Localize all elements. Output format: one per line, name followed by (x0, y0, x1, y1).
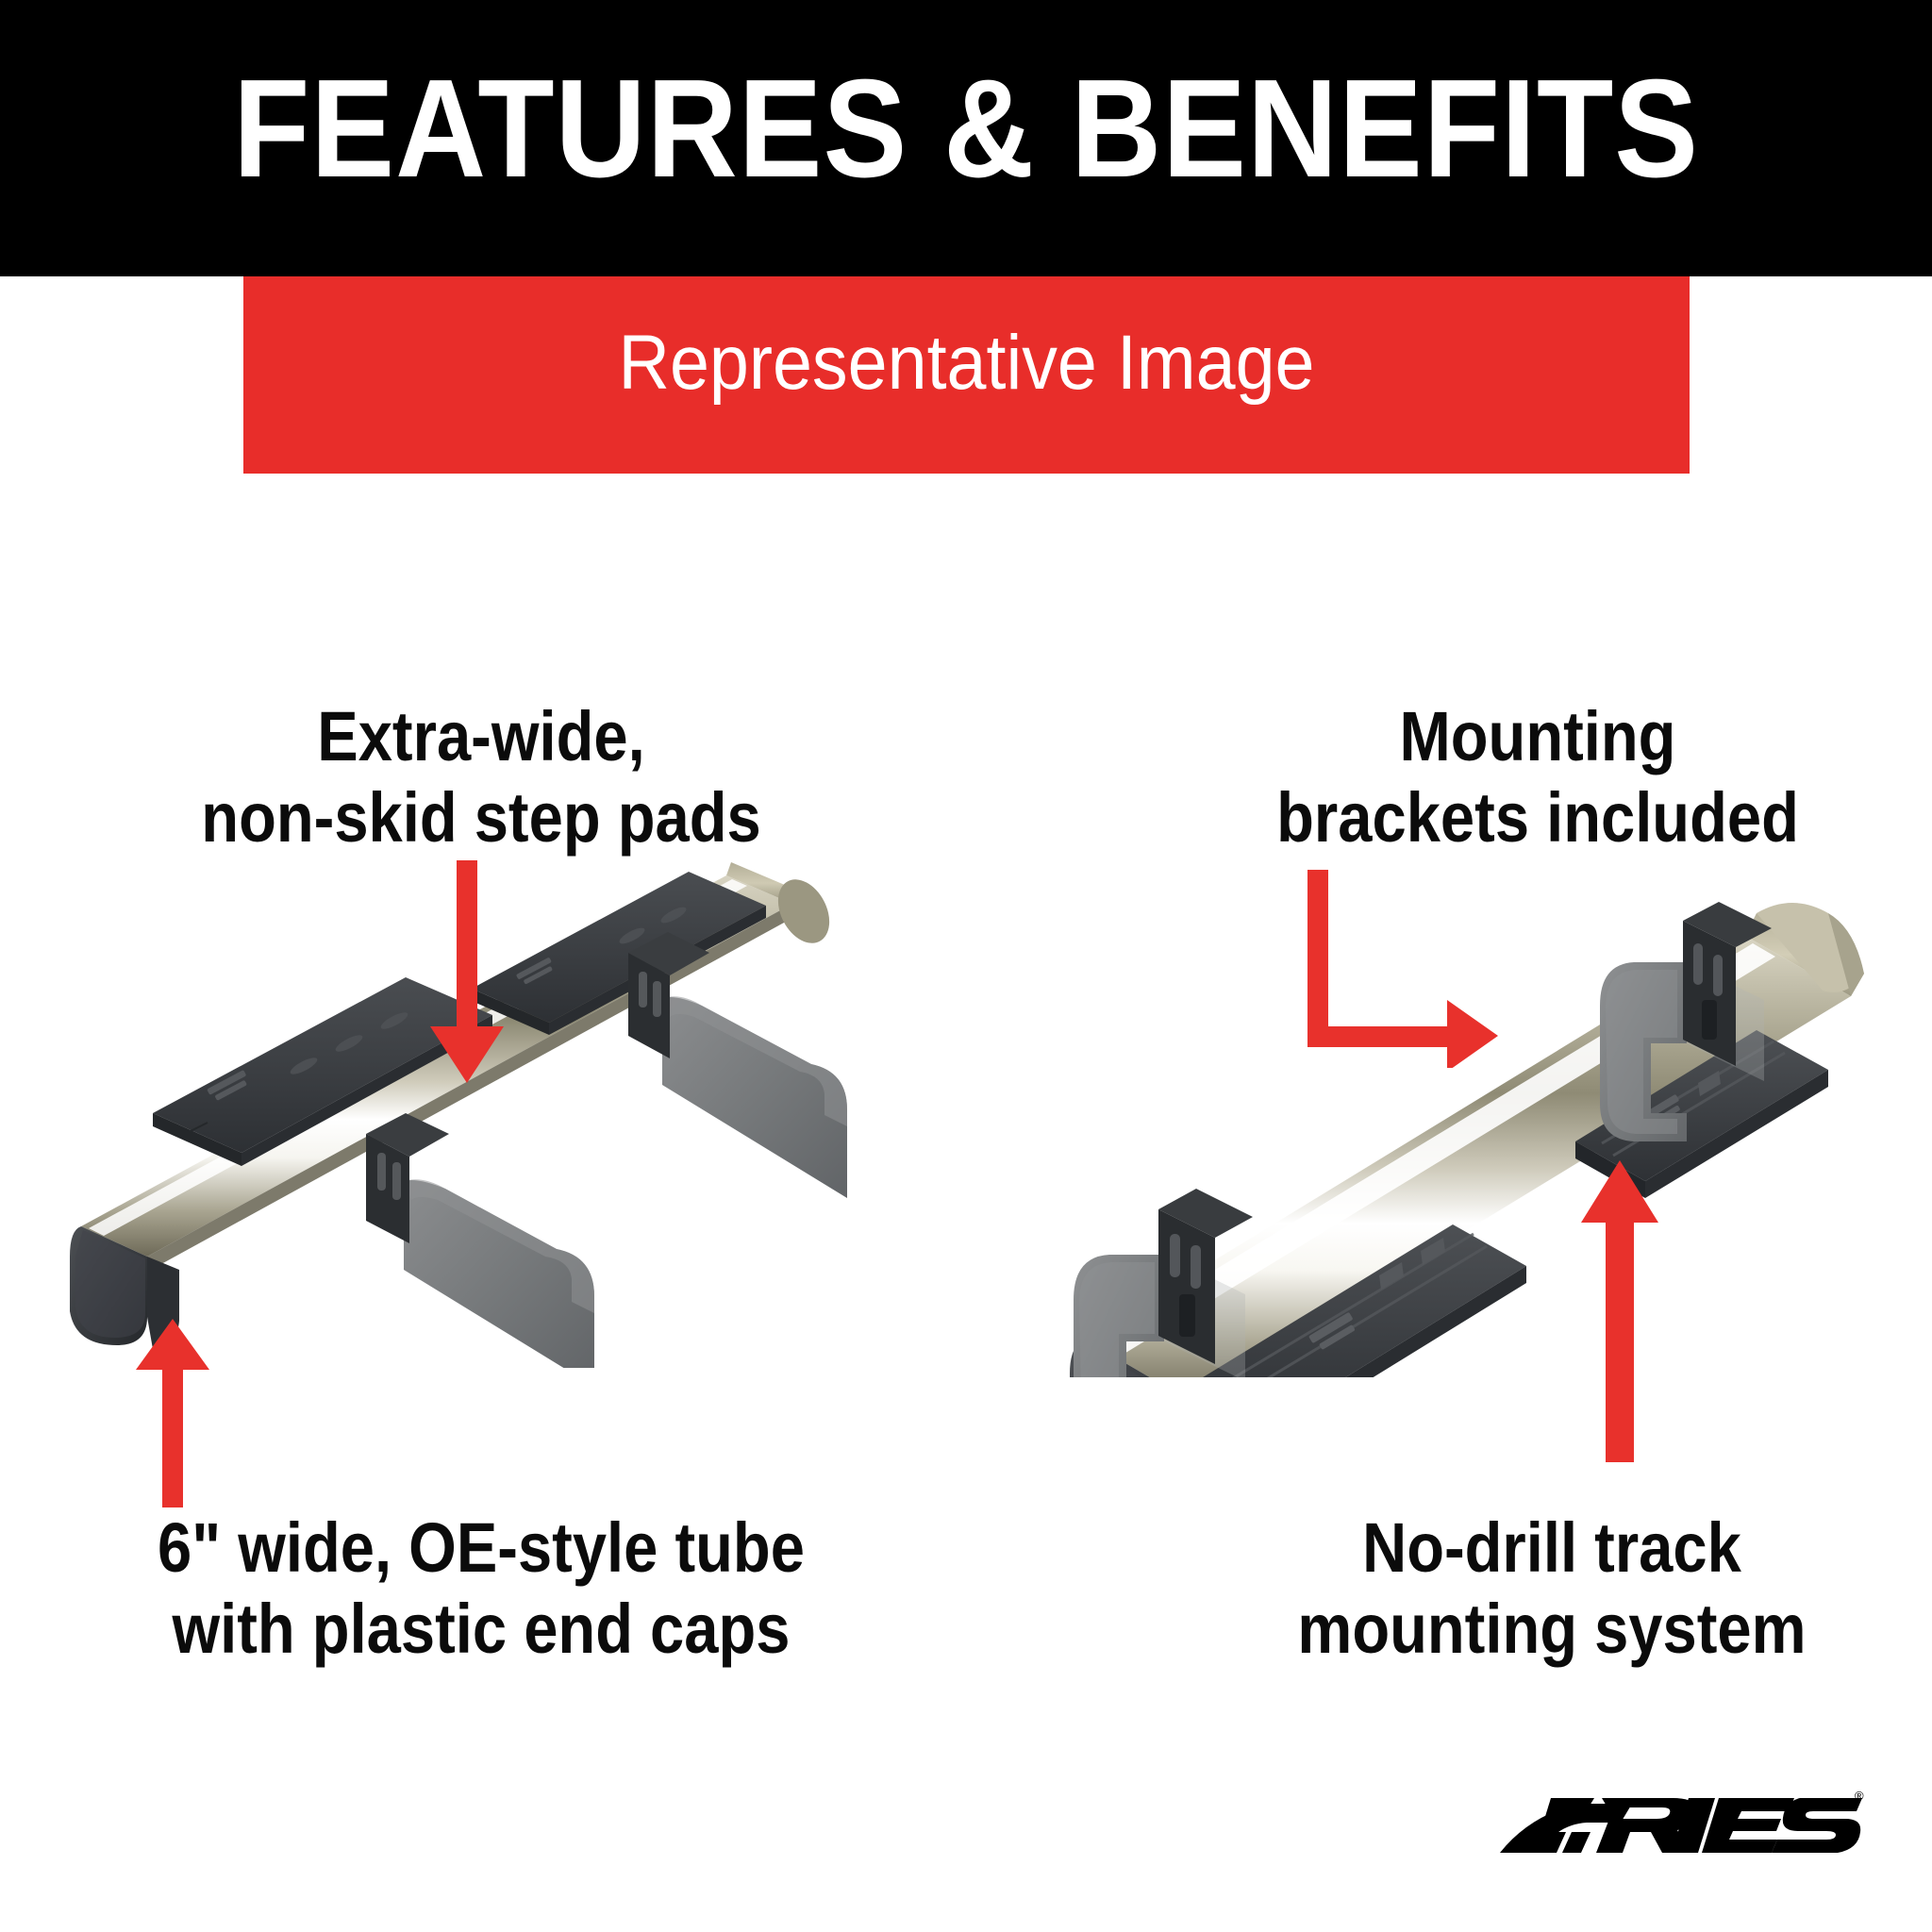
arrow-up-no-drill-track (1568, 1160, 1672, 1462)
aries-logo: ® (1489, 1783, 1866, 1864)
arrow-down-step-pads (415, 860, 519, 1096)
infographic-canvas: FEATURES & BENEFITS Representative Image (0, 0, 1932, 1932)
feature-caption-no-drill-track-mount: No-drill track mounting system (1224, 1507, 1879, 1670)
feature-caption-mounting-brackets-included: Mounting brackets included (1206, 696, 1870, 858)
mounting-bracket-left (366, 1113, 594, 1368)
representative-image-banner: Representative Image (243, 276, 1690, 474)
banner-label: Representative Image (301, 320, 1631, 407)
feature-caption-extra-wide-step-pads: Extra-wide, non-skid step pads (83, 696, 880, 858)
page-title: FEATURES & BENEFITS (96, 58, 1835, 200)
feature-caption-oe-style-tube: 6" wide, OE-style tube with plastic end … (75, 1507, 888, 1670)
registered-trademark-symbol: ® (1855, 1789, 1864, 1803)
arrow-bent-mounting-brackets (1304, 851, 1502, 1068)
product-image-running-board-full (66, 830, 1028, 1368)
arrow-up-oe-tube (121, 1319, 225, 1507)
